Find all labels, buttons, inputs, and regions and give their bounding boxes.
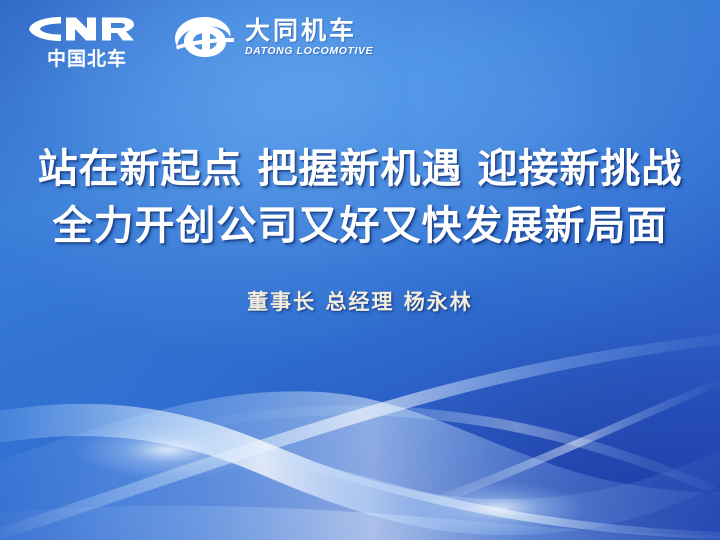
slide-subtitle-presenter: 董事长 总经理 杨永林 — [0, 286, 720, 316]
datong-english-name: DATONG LOCOMOTIVE — [245, 46, 373, 57]
cnr-logo: 中国北车 — [26, 13, 148, 70]
slide-background — [0, 0, 720, 540]
presentation-slide: 中国北车 大同机车 DATONG LOCOMOTIVE — [0, 0, 720, 540]
datong-chinese-name: 大同机车 — [245, 18, 373, 43]
logo-bar: 中国北车 大同机车 DATONG LOCOMOTIVE — [26, 13, 373, 70]
svg-text:中国北车: 中国北车 — [47, 47, 127, 70]
slide-title-block: 站在新起点 把握新机遇 迎接新挑战 全力开创公司又好又快发展新局面 — [0, 143, 720, 253]
cnr-chinese-name-icon: 中国北车 — [28, 47, 146, 70]
title-line-2: 全力开创公司又好又快发展新局面 — [0, 200, 720, 253]
cnr-wordmark-icon — [26, 13, 148, 45]
datong-text-block: 大同机车 DATONG LOCOMOTIVE — [245, 18, 373, 57]
title-line-1: 站在新起点 把握新机遇 迎接新挑战 — [0, 143, 720, 196]
datong-d-emblem-icon — [174, 13, 236, 61]
datong-logo: 大同机车 DATONG LOCOMOTIVE — [174, 13, 373, 61]
